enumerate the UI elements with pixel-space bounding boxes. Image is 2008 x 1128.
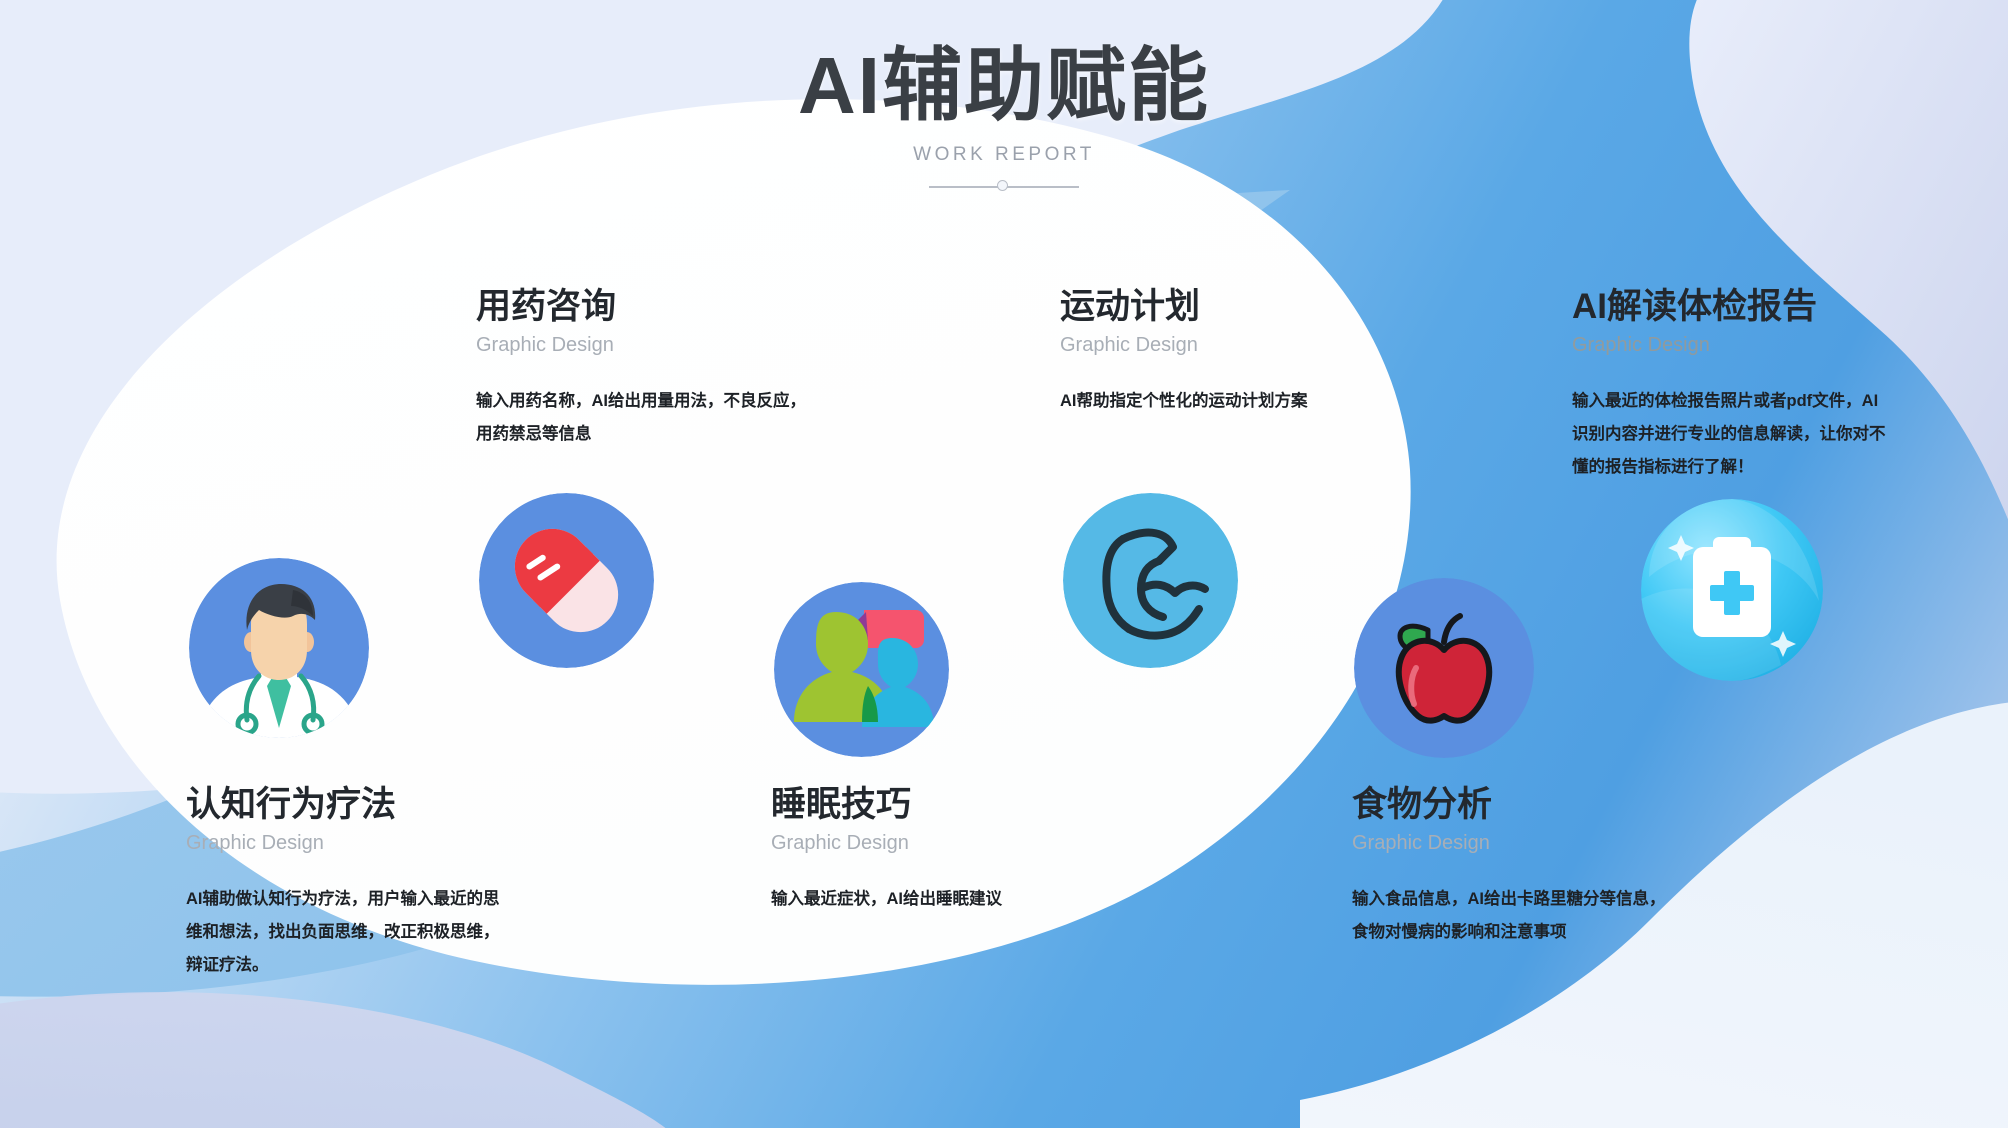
block-subtitle: Graphic Design bbox=[771, 831, 1111, 855]
block-title: 认知行为疗法 bbox=[186, 784, 516, 826]
desc-line: 识别内容并进行专业的信息解读，让你对不 bbox=[1572, 418, 1902, 451]
block-description: 输入最近症状，AI给出睡眠建议 bbox=[771, 883, 1111, 916]
block-title: AI解读体检报告 bbox=[1572, 286, 1902, 328]
header-divider bbox=[929, 180, 1079, 194]
desc-line: 输入食品信息，AI给出卡路里糖分等信息， bbox=[1352, 883, 1692, 916]
block-description: 输入用药名称，AI给出用量用法，不良反应， 用药禁忌等信息 bbox=[476, 385, 826, 451]
pill-capsule-icon bbox=[479, 493, 654, 668]
medical-clipboard-icon bbox=[1641, 499, 1823, 681]
block-description: AI帮助指定个性化的运动计划方案 bbox=[1060, 385, 1390, 418]
block-description: AI辅助做认知行为疗法，用户输入最近的思 维和想法，找出负面思维，改正积极思维，… bbox=[186, 883, 516, 982]
desc-line: 输入最近的体检报告照片或者pdf文件，AI bbox=[1572, 385, 1902, 418]
slide-header: AI辅助赋能 WORK REPORT bbox=[0, 44, 2008, 194]
block-subtitle: Graphic Design bbox=[476, 333, 826, 357]
desc-line: 食物对慢病的影响和注意事项 bbox=[1352, 916, 1692, 949]
desc-line: 用药禁忌等信息 bbox=[476, 418, 826, 451]
block-food-analysis: 食物分析 Graphic Design 输入食品信息，AI给出卡路里糖分等信息，… bbox=[1352, 784, 1692, 949]
doctor-avatar-icon bbox=[189, 558, 369, 738]
desc-line: 输入用药名称，AI给出用量用法，不良反应， bbox=[476, 385, 826, 418]
block-subtitle: Graphic Design bbox=[1060, 333, 1390, 357]
block-title: 运动计划 bbox=[1060, 286, 1390, 328]
desc-line: 懂的报告指标进行了解！ bbox=[1572, 451, 1902, 484]
block-ai-medical-report: AI解读体检报告 Graphic Design 输入最近的体检报告照片或者pdf… bbox=[1572, 286, 1902, 484]
block-medication-consultation: 用药咨询 Graphic Design 输入用药名称，AI给出用量用法，不良反应… bbox=[476, 286, 826, 451]
block-cognitive-behavioral-therapy: 认知行为疗法 Graphic Design AI辅助做认知行为疗法，用户输入最近… bbox=[186, 784, 516, 982]
divider-node-icon bbox=[997, 180, 1008, 191]
block-title: 食物分析 bbox=[1352, 784, 1692, 826]
block-description: 输入食品信息，AI给出卡路里糖分等信息， 食物对慢病的影响和注意事项 bbox=[1352, 883, 1692, 949]
flexed-bicep-icon bbox=[1063, 493, 1238, 668]
blob-bottom-left-lavender bbox=[0, 992, 700, 1128]
block-title: 睡眠技巧 bbox=[771, 784, 1111, 826]
block-subtitle: Graphic Design bbox=[1572, 333, 1902, 357]
block-description: 输入最近的体检报告照片或者pdf文件，AI 识别内容并进行专业的信息解读，让你对… bbox=[1572, 385, 1902, 484]
people-chat-icon bbox=[774, 582, 949, 757]
desc-line: 辩证疗法。 bbox=[186, 949, 516, 982]
desc-line: AI辅助做认知行为疗法，用户输入最近的思 bbox=[186, 883, 516, 916]
block-subtitle: Graphic Design bbox=[186, 831, 516, 855]
red-apple-icon bbox=[1354, 578, 1534, 758]
desc-line: AI帮助指定个性化的运动计划方案 bbox=[1060, 385, 1390, 418]
desc-line: 输入最近症状，AI给出睡眠建议 bbox=[771, 883, 1111, 916]
block-sleep-techniques: 睡眠技巧 Graphic Design 输入最近症状，AI给出睡眠建议 bbox=[771, 784, 1111, 916]
page-title: AI辅助赋能 bbox=[0, 44, 2008, 128]
desc-line: 维和想法，找出负面思维，改正积极思维， bbox=[186, 916, 516, 949]
page-subtitle: WORK REPORT bbox=[0, 144, 2008, 166]
slide-canvas: AI辅助赋能 WORK REPORT bbox=[0, 0, 2008, 1128]
block-exercise-plan: 运动计划 Graphic Design AI帮助指定个性化的运动计划方案 bbox=[1060, 286, 1390, 418]
block-subtitle: Graphic Design bbox=[1352, 831, 1692, 855]
block-title: 用药咨询 bbox=[476, 286, 826, 328]
